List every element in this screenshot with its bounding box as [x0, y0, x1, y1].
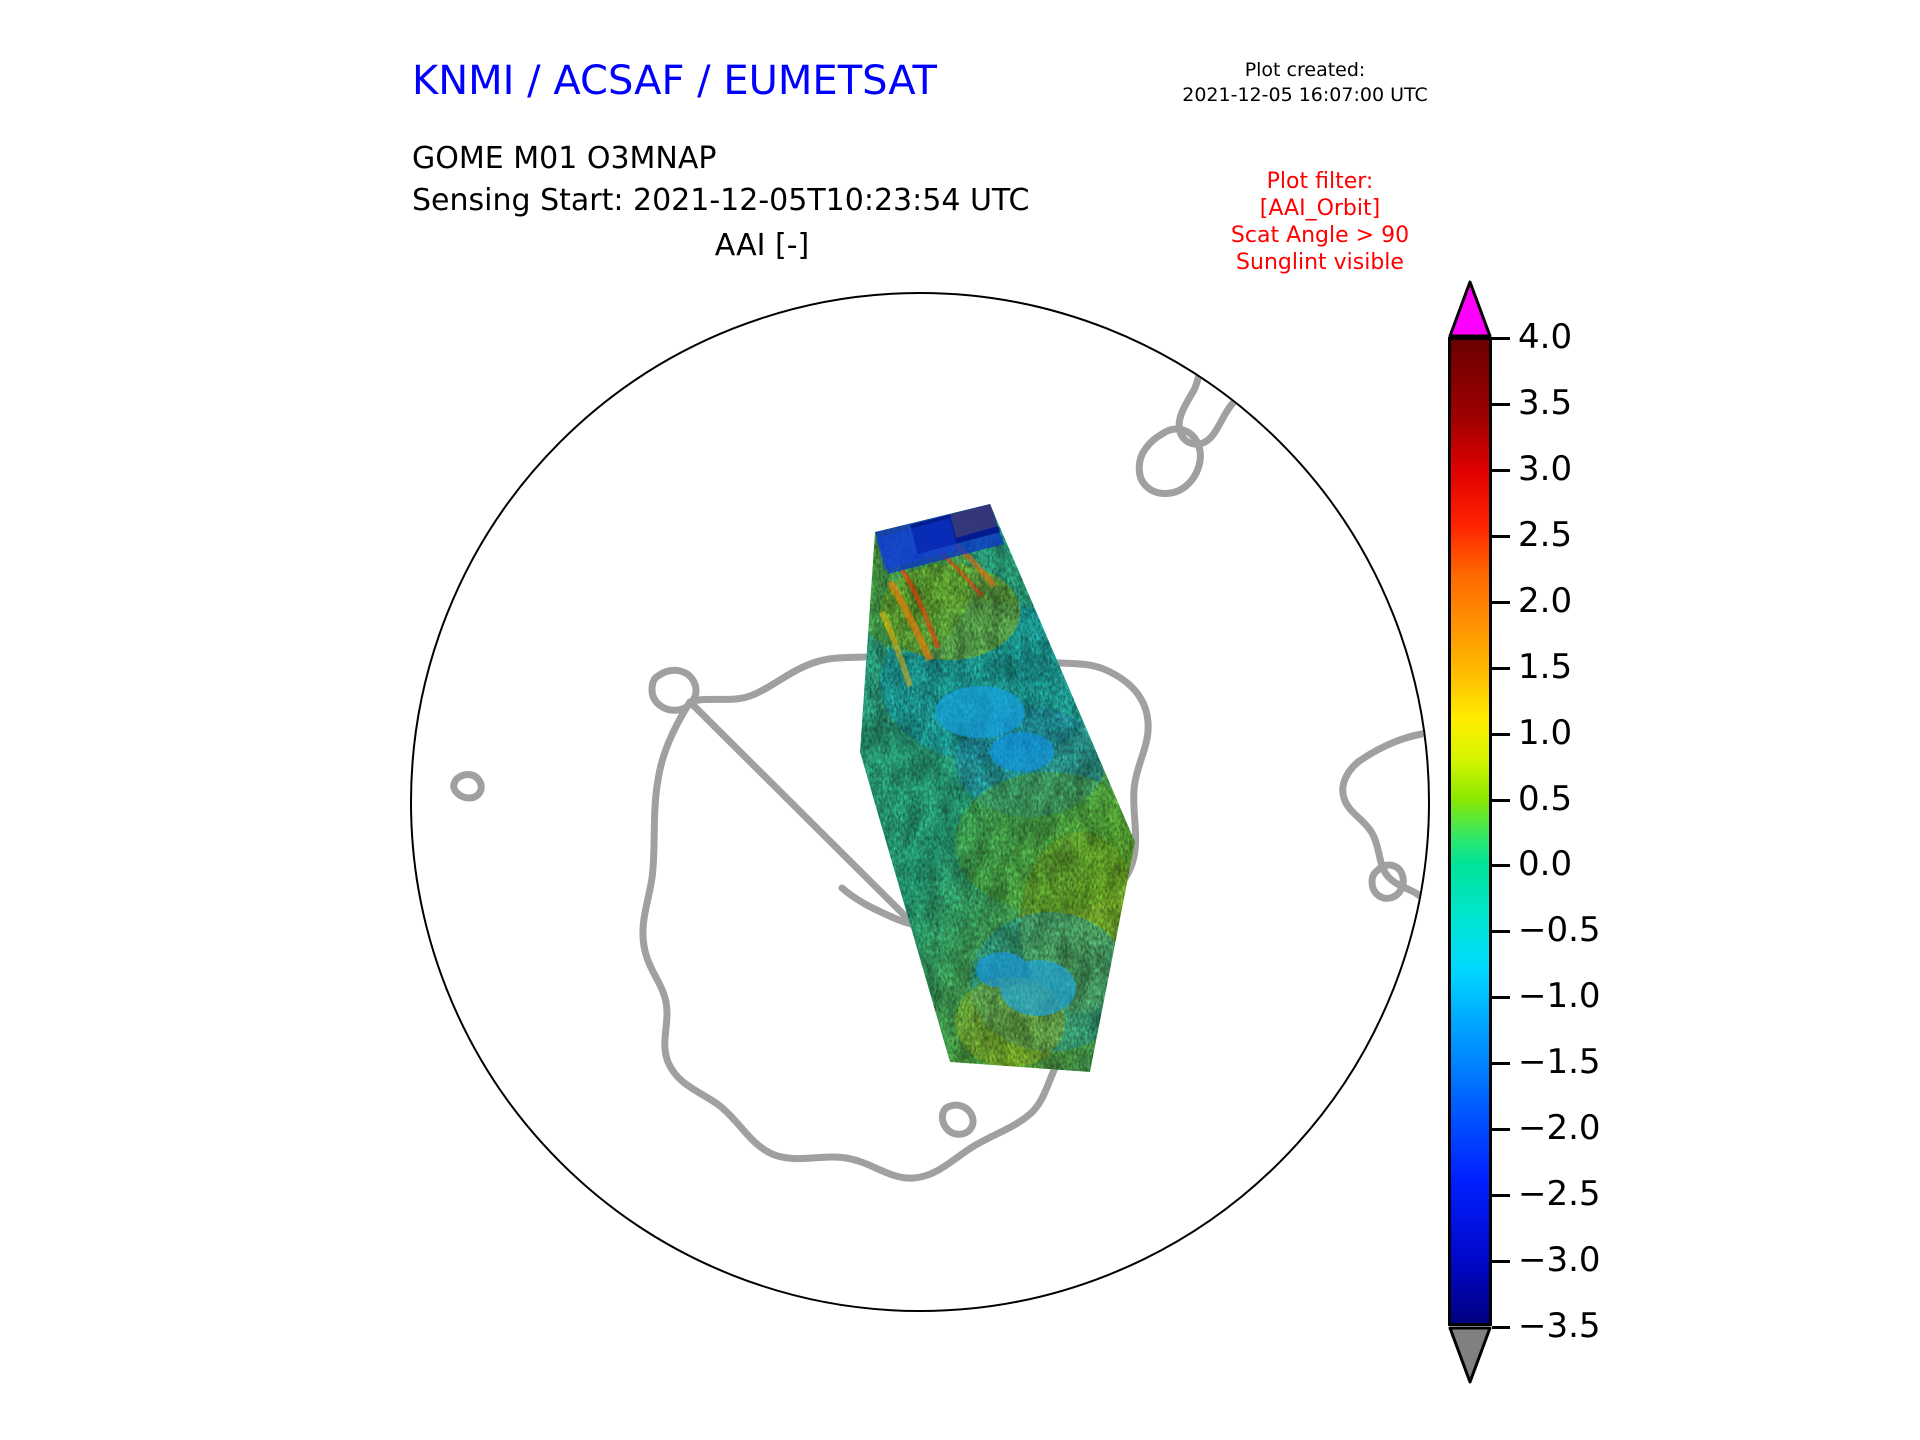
colorbar-tick-label: 2.0 [1518, 581, 1572, 621]
plot-filter-line-4: Sunglint visible [1190, 249, 1450, 276]
colorbar-under-arrow [1448, 1326, 1492, 1384]
colorbar-tick [1492, 337, 1510, 340]
colorbar-tick [1492, 930, 1510, 933]
colorbar-tick-label: −3.0 [1518, 1240, 1601, 1280]
plot-filter-block: Plot filter: [AAI_Orbit] Scat Angle > 90… [1190, 168, 1450, 276]
colorbar-tick [1492, 1128, 1510, 1131]
colorbar-tick [1492, 601, 1510, 604]
plot-created-block: Plot created: 2021-12-05 16:07:00 UTC [1160, 58, 1450, 108]
product-meta: GOME M01 O3MNAP Sensing Start: 2021-12-0… [412, 138, 1029, 222]
colorbar-tick [1492, 1194, 1510, 1197]
colorbar-tick [1492, 469, 1510, 472]
colorbar-tick-label: −2.0 [1518, 1108, 1601, 1148]
colorbar-tick [1492, 1062, 1510, 1065]
colorbar-tick-label: −0.5 [1518, 910, 1601, 950]
satellite-swath [810, 482, 1210, 1122]
colorbar-tick-label: −1.0 [1518, 976, 1601, 1016]
over-arrow-icon [1450, 282, 1490, 336]
colorbar-tick-label: 0.0 [1518, 844, 1572, 884]
product-name: GOME M01 O3MNAP [412, 138, 1029, 180]
coastline-new-zealand-south [1139, 429, 1200, 493]
plot-filter-line-3: Scat Angle > 90 [1190, 222, 1450, 249]
colorbar-tick [1492, 667, 1510, 670]
colorbar-tick [1492, 403, 1510, 406]
colorbar-gradient [1448, 337, 1492, 1326]
colorbar-tick-label: 4.0 [1518, 317, 1572, 357]
coastline-new-zealand-north [1179, 322, 1265, 444]
under-arrow-icon [1450, 1328, 1490, 1382]
coastline-speck-left [454, 775, 482, 798]
colorbar-tick [1492, 996, 1510, 999]
plot-filter-line-1: Plot filter: [1190, 168, 1450, 195]
colorbar-tick-label: −1.5 [1518, 1042, 1601, 1082]
colorbar-tick-label: −2.5 [1518, 1174, 1601, 1214]
plot-created-label: Plot created: [1160, 58, 1450, 83]
brand-title: KNMI / ACSAF / EUMETSAT [412, 58, 937, 104]
coastline-inner-island-b [942, 1105, 973, 1134]
colorbar-tick-label: −3.5 [1518, 1306, 1601, 1346]
colorbar-tick-label: 1.0 [1518, 713, 1572, 753]
map-title: AAI [-] [412, 228, 1112, 263]
colorbar-tick [1492, 799, 1510, 802]
sensing-start: Sensing Start: 2021-12-05T10:23:54 UTC [412, 180, 1029, 222]
colorbar: 4.03.53.02.52.01.51.00.50.0−0.5−1.0−1.5−… [1430, 280, 1730, 1100]
colorbar-tick [1492, 535, 1510, 538]
colorbar-tick [1492, 733, 1510, 736]
colorbar-tick-label: 1.5 [1518, 647, 1572, 687]
plot-filter-line-2: [AAI_Orbit] [1190, 195, 1450, 222]
colorbar-tick [1492, 1260, 1510, 1263]
plot-created-value: 2021-12-05 16:07:00 UTC [1160, 83, 1450, 108]
colorbar-tick-label: 2.5 [1518, 515, 1572, 555]
map-panel [390, 282, 1450, 1342]
colorbar-tick [1492, 864, 1510, 867]
plot-page: KNMI / ACSAF / EUMETSAT Plot created: 20… [0, 0, 1920, 1440]
colorbar-over-arrow [1448, 280, 1492, 338]
map-contents [454, 322, 1450, 1178]
map-canvas [390, 282, 1450, 1342]
colorbar-tick-label: 3.5 [1518, 383, 1572, 423]
colorbar-tick-label: 0.5 [1518, 779, 1572, 819]
colorbar-tick-label: 3.0 [1518, 449, 1572, 489]
colorbar-tick [1492, 1326, 1510, 1329]
coastline-island-nw [652, 670, 696, 710]
